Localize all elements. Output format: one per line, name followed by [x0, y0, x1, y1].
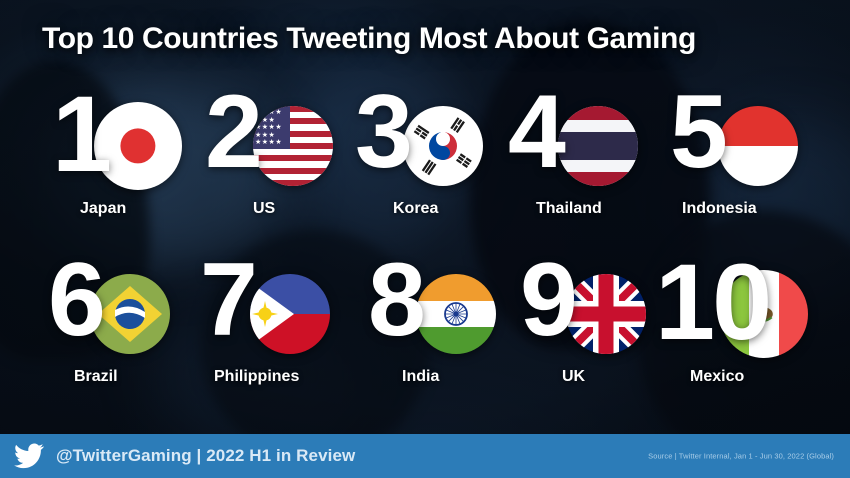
rank-item-korea[interactable]: 3: [355, 80, 525, 192]
flag-brazil: [90, 274, 170, 354]
rank-number: 8: [368, 248, 419, 352]
flag-indonesia: [718, 106, 798, 186]
flag-united-states: ★★★★★★★★★★★★★★★★★★: [253, 106, 333, 186]
footer-handle-text: @TwitterGaming | 2022 H1 in Review: [56, 446, 355, 466]
flag-united-kingdom: [566, 274, 646, 354]
rank-badge: 5: [670, 80, 845, 192]
page-title: Top 10 Countries Tweeting Most About Gam…: [42, 22, 696, 56]
rank-number: 5: [670, 80, 721, 184]
footer-brand[interactable]: @TwitterGaming | 2022 H1 in Review: [0, 443, 355, 469]
rank-badge: 8: [368, 248, 533, 360]
country-label: Indonesia: [682, 200, 757, 218]
rank-badge: 6: [48, 248, 213, 360]
country-label: Thailand: [536, 200, 602, 218]
twitter-bird-icon: [14, 443, 44, 469]
rank-number: 10: [655, 248, 769, 356]
country-label: Philippines: [214, 368, 299, 386]
flag-india: [416, 274, 496, 354]
country-label: US: [253, 200, 275, 218]
country-label: Japan: [80, 200, 126, 218]
rank-badge: 10: [655, 248, 845, 360]
ranking-grid: 1 Japan 2: [0, 80, 850, 416]
country-label: Mexico: [690, 368, 744, 386]
rank-item-mexico[interactable]: 10 Mexico: [655, 248, 845, 360]
rank-item-philippines[interactable]: 7 Philippines: [200, 248, 380, 360]
flag-philippines: [250, 274, 330, 354]
country-label: UK: [562, 368, 585, 386]
rank-item-indonesia[interactable]: 5 Indonesia: [670, 80, 845, 192]
rank-badge: 3: [355, 80, 525, 192]
rank-badge: 2 ★★★★★★★★★★★★★★★★★★: [205, 80, 370, 192]
rank-item-thailand[interactable]: 4 Thailand: [508, 80, 683, 192]
rank-item-india[interactable]: 8: [368, 248, 533, 360]
country-label: India: [402, 368, 439, 386]
footer-source-text: Source | Twitter Internal, Jan 1 - Jun 3…: [648, 452, 834, 461]
flag-thailand: [558, 106, 638, 186]
rank-number: 1: [52, 80, 108, 188]
rank-item-japan[interactable]: 1 Japan: [52, 80, 217, 192]
footer-bar: @TwitterGaming | 2022 H1 in Review Sourc…: [0, 434, 850, 478]
rank-number: 3: [355, 80, 406, 184]
country-label: Korea: [393, 200, 438, 218]
rank-number: 6: [48, 248, 99, 352]
rank-number: 4: [508, 80, 559, 184]
rank-badge: 1: [52, 80, 217, 192]
rank-badge: 7: [200, 248, 380, 360]
rank-item-us[interactable]: 2 ★★★★★★★★★★★★★★★★★★ US: [205, 80, 370, 192]
infographic-canvas: Top 10 Countries Tweeting Most About Gam…: [0, 0, 850, 478]
rank-number: 2: [205, 80, 256, 184]
rank-number: 9: [520, 248, 571, 352]
rank-item-brazil[interactable]: 6 Brazil: [48, 248, 213, 360]
rank-badge: 4: [508, 80, 683, 192]
rank-number: 7: [200, 248, 251, 352]
flag-south-korea: [403, 106, 483, 186]
ranking-row: 6 Brazil 7: [0, 248, 850, 416]
ranking-row: 1 Japan 2: [0, 80, 850, 248]
country-label: Brazil: [74, 368, 118, 386]
